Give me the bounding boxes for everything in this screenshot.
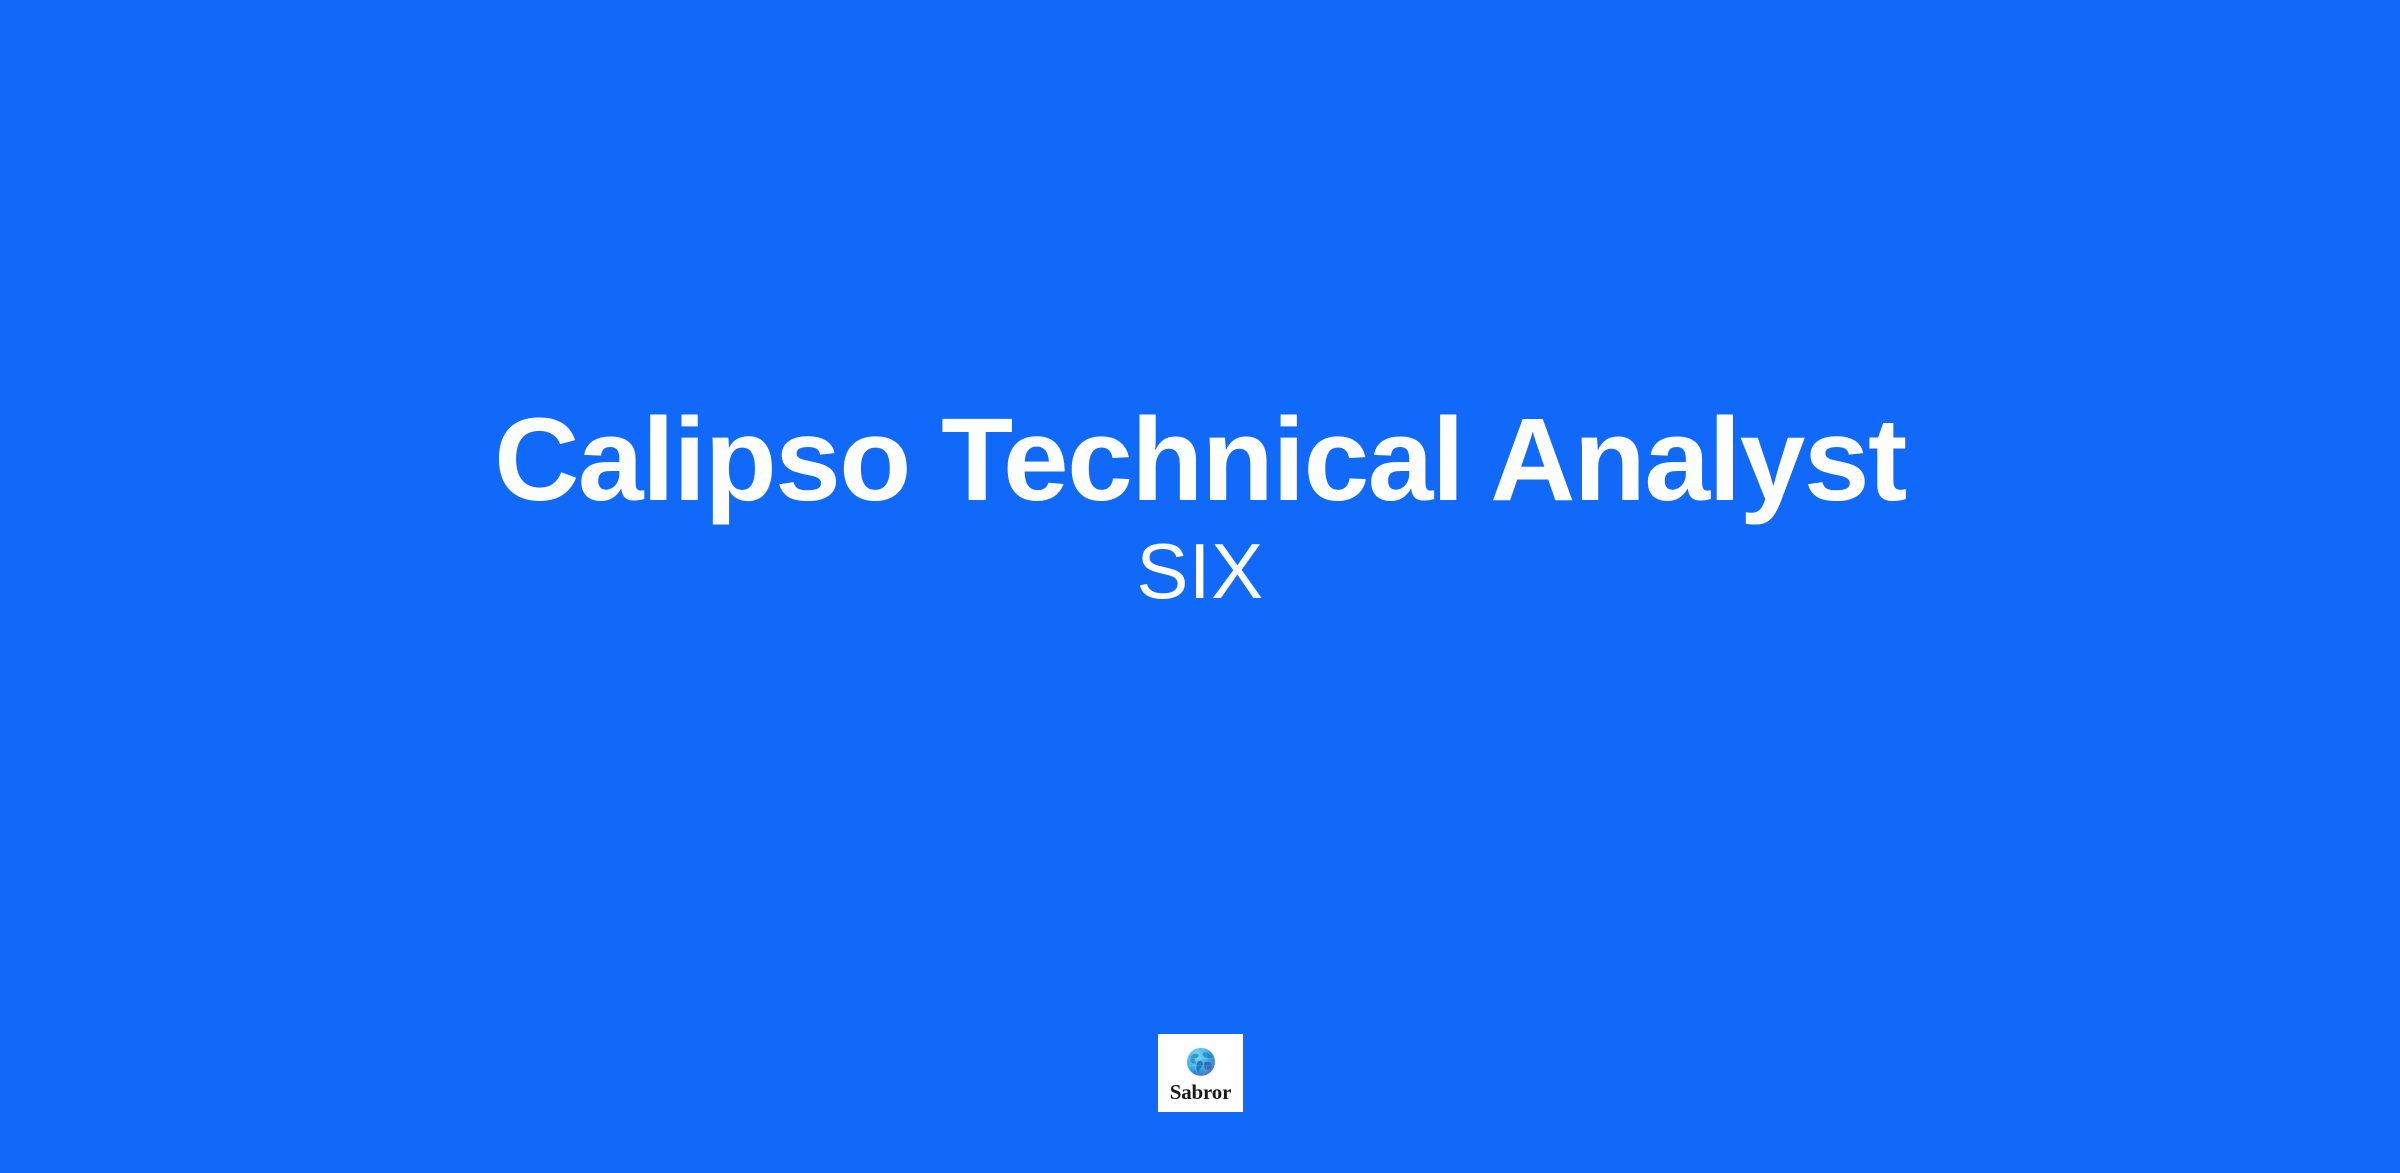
brand-badge: Sabror <box>1158 1034 1243 1112</box>
brand-name: Sabror <box>1170 1082 1231 1103</box>
page-title: Calipso Technical Analyst <box>0 398 2400 523</box>
splash-screen: Calipso Technical Analyst SIX <box>0 0 2400 1173</box>
hero-section: Calipso Technical Analyst SIX <box>0 0 2400 1173</box>
globe-icon <box>1183 1045 1219 1081</box>
page-subtitle: SIX <box>0 529 2400 615</box>
hero-text-block: Calipso Technical Analyst SIX <box>0 398 2400 615</box>
